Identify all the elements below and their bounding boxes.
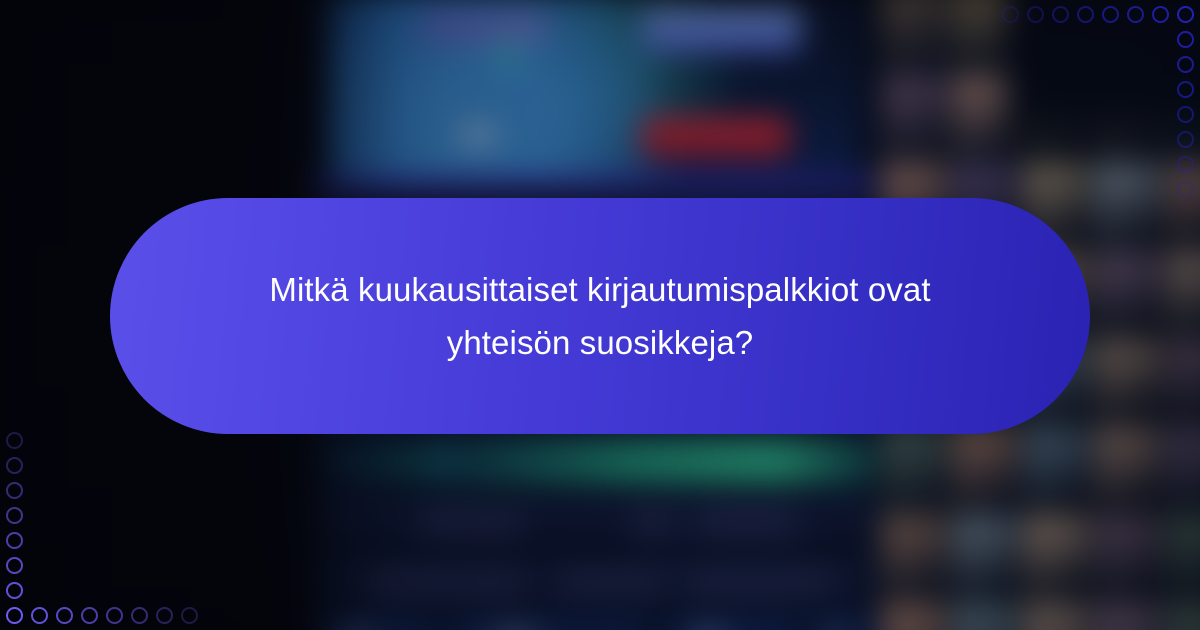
- decorative-dot: [1152, 6, 1169, 23]
- decorative-dot: [181, 607, 198, 624]
- decorative-dot: [81, 607, 98, 624]
- headline-text: Mitkä kuukausittaiset kirjautumispalkkio…: [220, 263, 980, 370]
- decorative-dot: [56, 607, 73, 624]
- decorative-dot: [1177, 156, 1194, 173]
- decorative-dot: [1002, 6, 1019, 23]
- headline-pill-banner: Mitkä kuukausittaiset kirjautumispalkkio…: [110, 198, 1090, 434]
- decorative-dot: [6, 482, 23, 499]
- decorative-dot: [6, 607, 23, 624]
- decorative-dot: [1102, 6, 1119, 23]
- decorative-dot: [106, 607, 123, 624]
- decorative-dot: [1077, 6, 1094, 23]
- decorative-dot: [131, 607, 148, 624]
- decorative-dot: [1177, 131, 1194, 148]
- dot-cluster-top-right: [994, 6, 1194, 206]
- decorative-dot: [31, 607, 48, 624]
- decorative-dot: [1027, 6, 1044, 23]
- dot-cluster-bottom-left: [6, 424, 206, 624]
- decorative-dot: [6, 432, 23, 449]
- decorative-dot: [6, 507, 23, 524]
- decorative-dot: [156, 607, 173, 624]
- decorative-dot: [6, 582, 23, 599]
- decorative-dot: [1177, 181, 1194, 198]
- decorative-dot: [6, 532, 23, 549]
- decorative-dot: [1177, 6, 1194, 23]
- decorative-dot: [6, 557, 23, 574]
- decorative-dot: [1177, 56, 1194, 73]
- decorative-dot: [6, 457, 23, 474]
- page-canvas: Mitkä kuukausittaiset kirjautumispalkkio…: [0, 0, 1200, 630]
- decorative-dot: [1127, 6, 1144, 23]
- decorative-dot: [1177, 31, 1194, 48]
- decorative-dot: [1177, 106, 1194, 123]
- decorative-dot: [1052, 6, 1069, 23]
- decorative-dot: [1177, 81, 1194, 98]
